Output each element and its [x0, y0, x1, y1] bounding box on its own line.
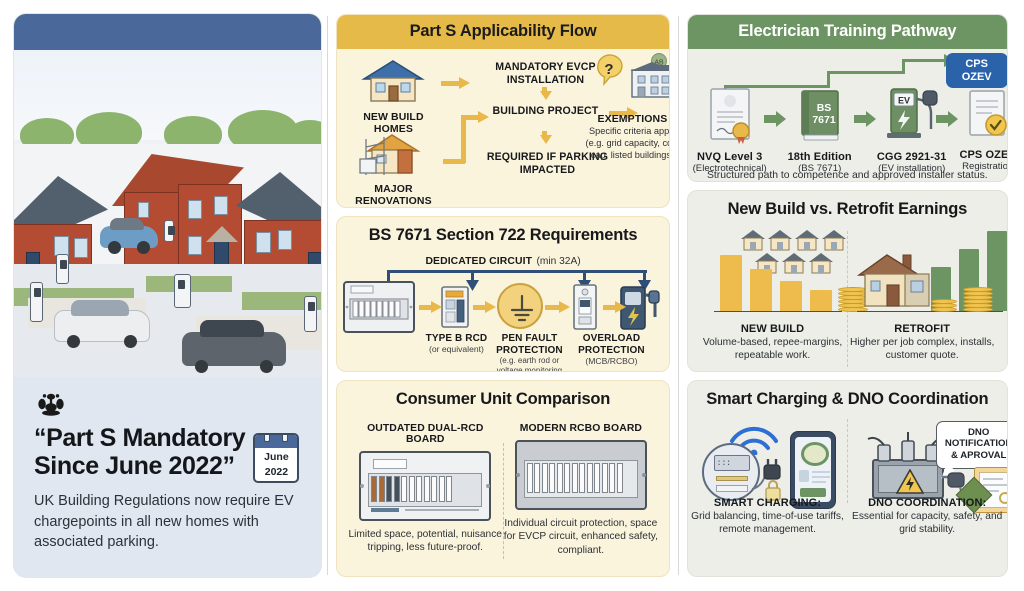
training-step-3: EV CGG 2921-31 (EV installation) — [870, 85, 954, 175]
chargepoint-1 — [30, 282, 43, 322]
label-pen-note: (e.g. earth rod or voltage monitoring de… — [487, 356, 571, 372]
label-pen-title: PEN FAULT PROTECTION — [487, 333, 571, 356]
panel-bs7671-header: BS 7671 Section 722 Requirements — [337, 217, 668, 253]
registration-doc-icon — [963, 89, 1008, 143]
outdated-board-graphic — [359, 451, 491, 521]
panel-earnings-header: New Build vs. Retrofit Earnings — [688, 191, 1007, 227]
single-house-icon — [857, 249, 933, 311]
consumer-unit-body: OUTDATED DUAL-RCD BOARD — [337, 417, 668, 565]
calendar-month: June — [255, 448, 297, 463]
flow-arrow-2 — [485, 301, 496, 313]
bs7671-body: DEDICATED CIRCUIT (min 32A) — [337, 253, 668, 371]
label-modern-board-title: MODERN RCBO BOARD — [503, 423, 659, 434]
label-rcd-title: TYPE B RCD — [423, 333, 489, 344]
new-build-node: NEW BUILD HOMES — [345, 57, 441, 135]
label-training-footer: Structured path to competence and approv… — [688, 169, 1007, 182]
training-step-2: BS 7671 18th Edition (BS 7671) — [780, 87, 860, 175]
arrow-stem-2c — [463, 115, 479, 120]
pen-fault-icon — [497, 283, 543, 329]
smart-charging-body: ::: — [688, 417, 1007, 537]
label-dedicated-circuit: DEDICATED CIRCUIT — [425, 256, 532, 267]
hero-card: “Part S Mandatory Since June 2022” UK Bu… — [14, 14, 321, 577]
bar-nb-4 — [810, 290, 832, 311]
smart-charging-caption: SMART CHARGING: Grid balancing, time-of-… — [688, 497, 848, 537]
flow-arrow-4 — [615, 301, 626, 313]
label-overload-note: (MCB/RCBO) — [567, 356, 655, 367]
renovation-house-icon — [358, 129, 428, 177]
hazard-icon — [896, 469, 924, 495]
panel-bs7671: BS 7671 Section 722 Requirements DEDICAT… — [336, 216, 669, 372]
earnings-body: NEW BUILD Volume-based, repee-margins, r… — [688, 227, 1007, 371]
chargepoint-4 — [304, 296, 317, 332]
chargepoint-5 — [164, 220, 174, 242]
label-rcd-note: (or equivalent) — [423, 344, 489, 355]
calendar-year: 2022 — [255, 463, 297, 478]
label-step1-title: NVQ Level 3 — [692, 151, 768, 163]
dno-coordination-caption: DNO COORDINATION: Essential for capacity… — [847, 497, 1007, 537]
label-smart-charging-title: SMART CHARGING: — [688, 497, 848, 509]
route-line-4 — [827, 71, 905, 74]
flow-arrow-1 — [431, 301, 442, 313]
right-column: Electrician Training Pathway — [679, 10, 1016, 581]
label-circuit-note: (min 32A) — [536, 256, 580, 267]
panel-earnings: New Build vs. Retrofit Earnings — [687, 190, 1008, 372]
exemptions-node: AB ? EXEMPTIONS Specific cr — [583, 53, 669, 162]
label-exemptions-body: Specific criteria apply (e.g. grid capac… — [583, 126, 669, 162]
book-icon: BS 7671 — [794, 87, 846, 145]
panel-training-pathway: Electrician Training Pathway — [687, 14, 1008, 182]
outdated-board-column: OUTDATED DUAL-RCD BOARD — [347, 423, 503, 557]
label-dno-title: DNO COORDINATION: — [847, 497, 1007, 509]
consumer-unit-icon — [343, 281, 415, 333]
page-subtitle: UK Building Regulations now require EV c… — [34, 491, 303, 553]
arrow-stem-1 — [441, 81, 461, 86]
svg-text:EV: EV — [898, 96, 910, 106]
bar-nb-3 — [780, 281, 802, 311]
cps-ozev-badge: CPS OZEV — [946, 53, 1008, 88]
hero-column: “Part S Mandatory Since June 2022” UK Bu… — [8, 10, 327, 581]
royal-crest-icon — [34, 391, 68, 417]
middle-column: Part S Applicability Flow NEW BUILD HOME… — [328, 10, 677, 581]
car-blue — [100, 226, 158, 248]
overload-protection-icon — [573, 284, 597, 330]
arrow-down-stem-2 — [542, 131, 547, 139]
arrow-stem-2b — [461, 115, 466, 163]
car-grey — [182, 332, 286, 366]
label-step2-title: 18th Edition — [780, 151, 860, 163]
house-icon — [360, 57, 426, 105]
training-step-1: NVQ Level 3 (Electrotechnical) — [692, 87, 768, 175]
applicability-flow-body: NEW BUILD HOMES MAJOR RENOVATION — [337, 49, 668, 207]
training-pathway-body: NVQ Level 3 (Electrotechnical) BS 7671 1… — [688, 49, 1007, 181]
panel-smart-charging: Smart Charging & DNO Coordination ::: — [687, 380, 1008, 578]
top-band — [14, 14, 321, 50]
new-build-chart — [698, 229, 848, 321]
comparison-divider — [503, 443, 504, 559]
training-step-4: CPS OZEV Registration — [950, 89, 1008, 173]
exemptions-icon: AB ? — [586, 53, 669, 107]
ev-charger-icon: EV — [883, 85, 941, 145]
label-retrofit-body: Higher per job complex, installs, custom… — [847, 336, 997, 363]
coin-stack-large — [963, 287, 993, 311]
major-renovations-node: MAJOR RENOVATIONS — [345, 129, 441, 207]
ground — [14, 144, 321, 384]
coin-stack-small — [931, 299, 957, 311]
bar-nb-1 — [720, 255, 742, 311]
chargepoint-2 — [56, 254, 69, 284]
type-b-rcd-icon — [441, 286, 469, 328]
panel-applicability-header: Part S Applicability Flow — [337, 15, 668, 49]
panel-smart-header: Smart Charging & DNO Coordination — [688, 381, 1007, 417]
panel-applicability-flow: Part S Applicability Flow NEW BUILD HOME… — [336, 14, 669, 208]
label-outdated-board-body: Limited space, potential, nuisance tripp… — [347, 528, 503, 555]
label-major-renovations: MAJOR RENOVATIONS — [345, 183, 441, 207]
label-new-build-title: NEW BUILD — [698, 323, 848, 335]
svg-text:?: ? — [605, 61, 614, 78]
route-line-6 — [902, 59, 948, 62]
infographic-page: “Part S Mandatory Since June 2022” UK Bu… — [0, 0, 1024, 591]
plug-icon — [750, 455, 796, 495]
svg-text:7671: 7671 — [812, 114, 836, 126]
label-modern-board-body: Individual circuit protection, space for… — [503, 517, 659, 557]
modern-board-column: MODERN RCBO BOARD — [503, 423, 659, 557]
modern-board-graphic — [515, 440, 647, 510]
retrofit-chart — [847, 229, 997, 321]
label-overload-title: OVERLOAD PROTECTION — [567, 333, 655, 356]
label-step4-title: CPS OZEV — [950, 149, 1008, 161]
smart-divider — [847, 419, 848, 503]
certificate-icon — [705, 87, 755, 145]
bus-bar — [387, 270, 646, 273]
hero-text-block: “Part S Mandatory Since June 2022” UK Bu… — [14, 377, 321, 577]
street-illustration — [14, 14, 321, 384]
panel-training-header: Electrician Training Pathway — [688, 15, 1007, 49]
new-build-column: NEW BUILD Volume-based, repee-margins, r… — [698, 229, 848, 363]
label-retrofit-title: RETROFIT — [847, 323, 997, 335]
car-white — [54, 310, 150, 342]
label-step3-title: CGG 2921-31 — [870, 151, 954, 163]
svg-text:BS: BS — [816, 102, 831, 114]
retrofit-column: RETROFIT Higher per job complex, install… — [847, 229, 997, 363]
flow-arrow-3 — [559, 301, 570, 313]
arrow-down-stem-1 — [542, 87, 547, 95]
label-exemptions-title: EXEMPTIONS — [583, 113, 669, 125]
panel-consumer-unit-header: Consumer Unit Comparison — [337, 381, 668, 417]
label-dno-bubble: DNO NOTIFICATION & APROVAL — [941, 427, 1008, 462]
label-outdated-board-title: OUTDATED DUAL-RCD BOARD — [347, 423, 503, 445]
label-dno-body: Essential for capacity, safety, and grid… — [847, 510, 1007, 537]
panel-consumer-unit: Consumer Unit Comparison OUTDATED DUAL-R… — [336, 380, 669, 577]
label-new-build-body: Volume-based, repee-margins, repeatable … — [698, 336, 848, 363]
phone-screen — [795, 437, 831, 502]
chargepoint-3 — [174, 274, 191, 308]
label-smart-charging-body: Grid balancing, time-of-use tariffs, rem… — [688, 510, 848, 537]
calendar-badge: June 2022 — [253, 433, 299, 483]
bar-nb-2 — [750, 269, 772, 311]
transformer-icon — [872, 459, 944, 499]
